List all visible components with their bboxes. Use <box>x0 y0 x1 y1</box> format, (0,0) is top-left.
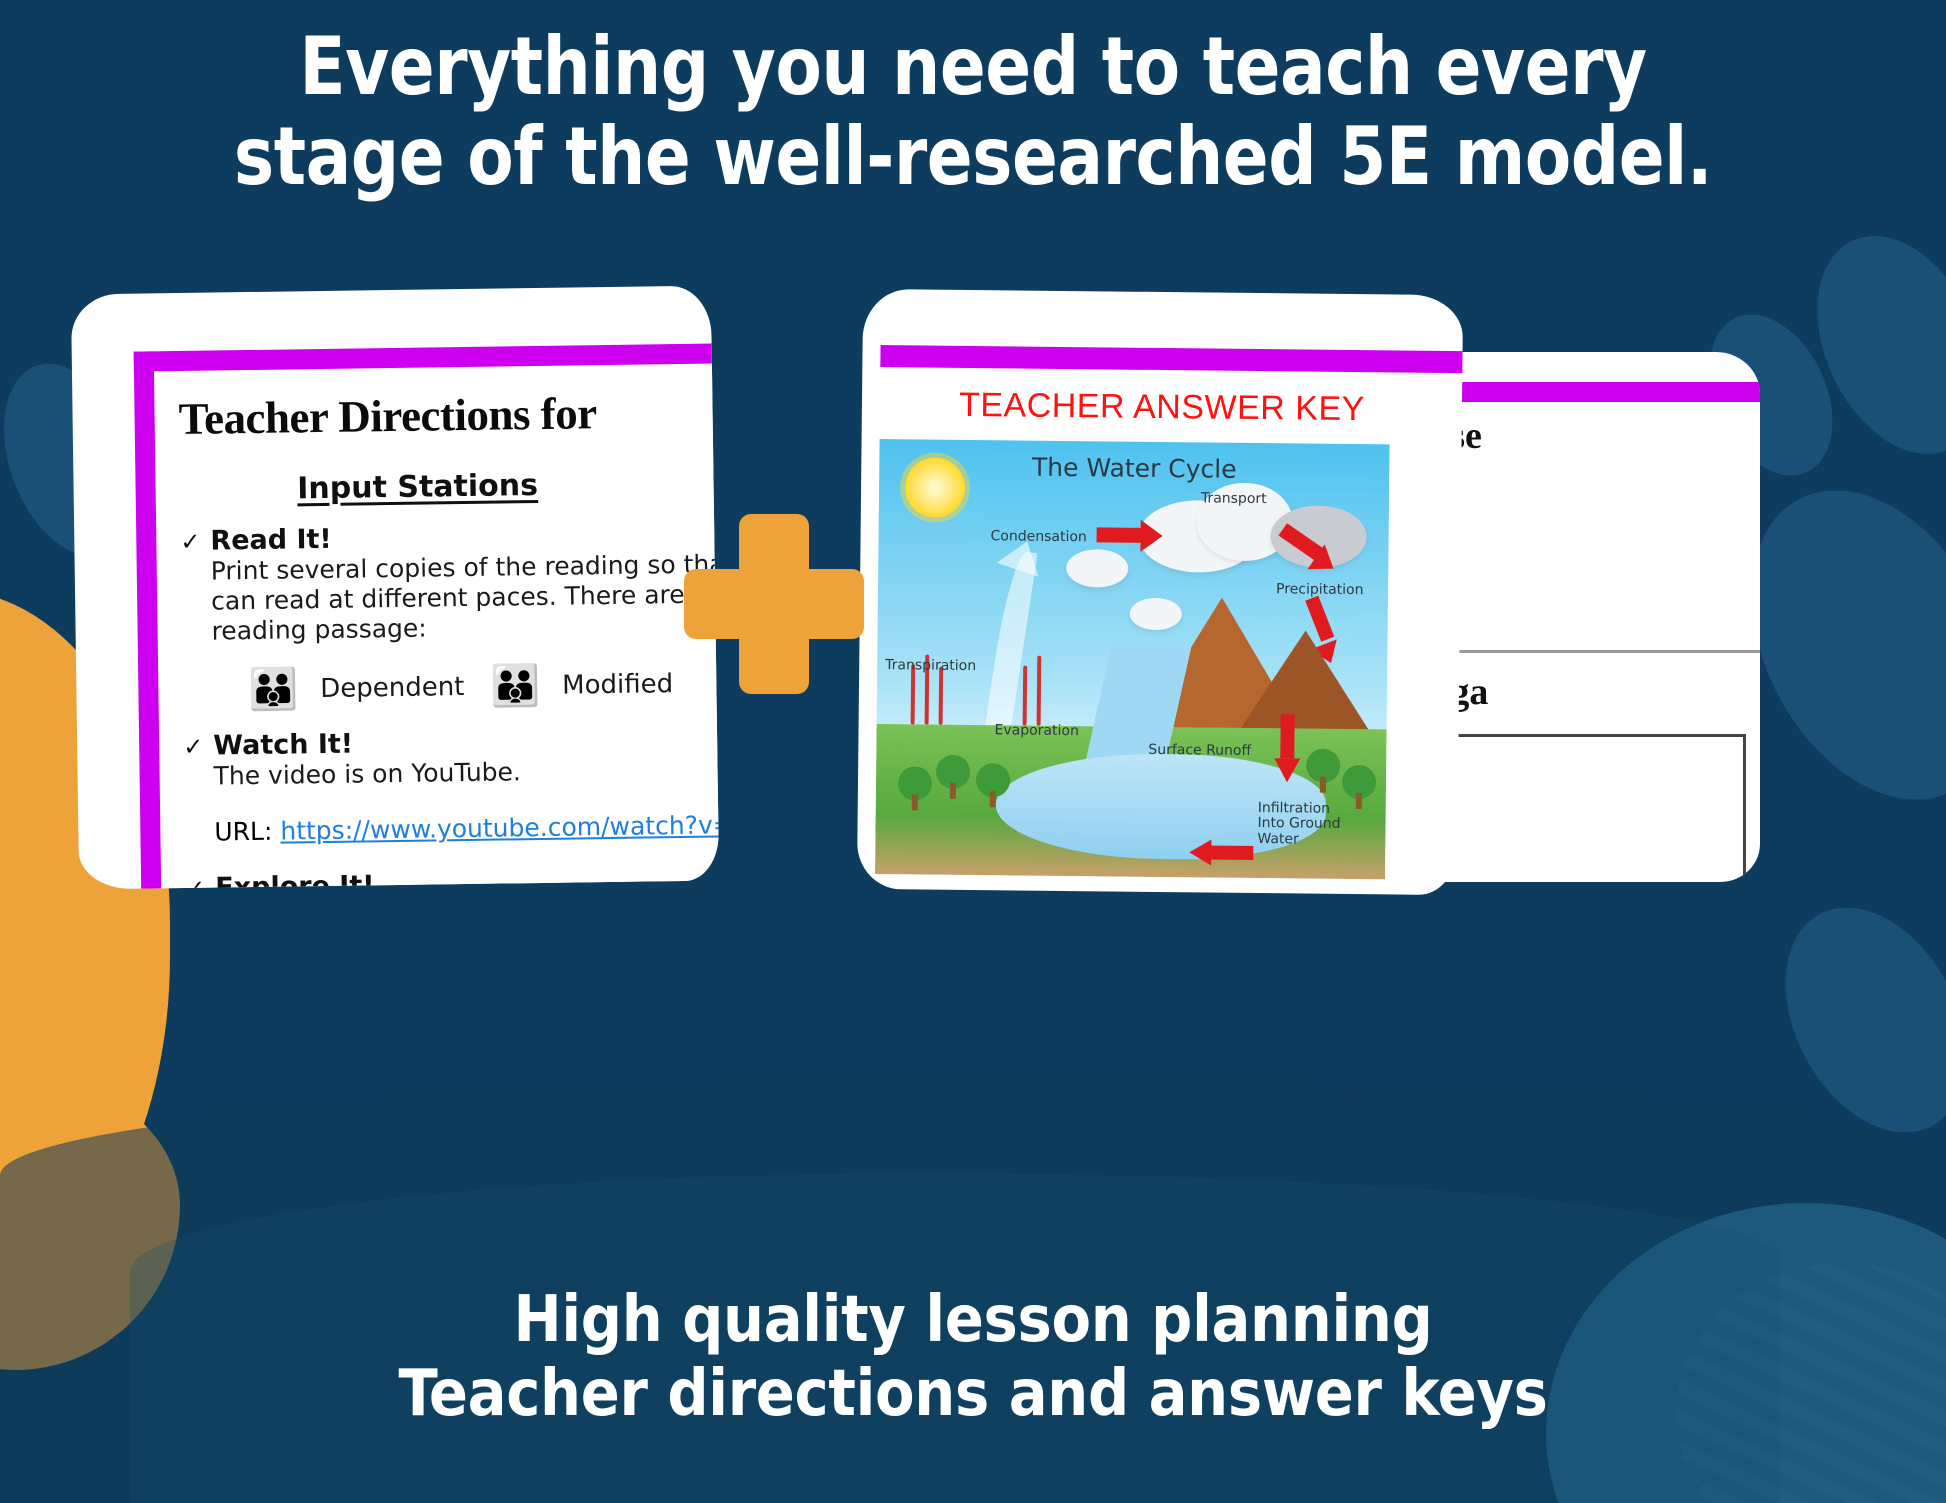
transpiration-squiggle <box>939 667 944 725</box>
diagram-label-infiltration: Infiltration Into Ground Water <box>1257 801 1347 848</box>
diagram-label-surface-runoff: Surface Runoff <box>1148 742 1251 759</box>
answer-key-page: TEACHER ANSWER KEY The Water Cycle <box>857 289 1463 895</box>
cloud-icon <box>1066 549 1128 588</box>
page-title: Everything you need to teach every stage… <box>58 22 1887 201</box>
bullet-heading-label: Watch It! <box>213 729 353 762</box>
transpiration-squiggle <box>1023 666 1028 726</box>
checkmark-icon: ✓ <box>180 528 200 556</box>
reading-version-options: 👪 Dependent 👪 Modified <box>182 645 719 731</box>
document-title: Teacher Directions for <box>178 385 719 445</box>
tree-icon <box>898 766 932 810</box>
bottom-caption-line-1: High quality lesson planning <box>0 1283 1946 1357</box>
answer-key-card[interactable]: TEACHER ANSWER KEY The Water Cycle <box>857 289 1463 895</box>
water-cycle-diagram: The Water Cycle <box>875 439 1390 879</box>
red-arrow-icon <box>1140 520 1162 552</box>
red-arrow-icon <box>1274 758 1300 782</box>
bottom-caption: High quality lesson planning Teacher dir… <box>0 1283 1946 1431</box>
bullet-read-it: ✓Read It! Print several copies of the re… <box>180 518 719 647</box>
plus-icon-vertical-bar <box>739 514 809 694</box>
red-arrow-icon <box>1097 527 1145 543</box>
diagram-label-condensation: Condensation <box>990 528 1086 545</box>
youtube-url-link[interactable]: https://www.youtube.com/watch?v=al-dc <box>280 809 719 845</box>
option-dependent: 👪 Dependent <box>248 667 465 710</box>
diagram-label-transport: Transport <box>1201 490 1267 507</box>
headline-line-2: stage of the well-researched 5E model. <box>58 112 1887 202</box>
diagram-label-evaporation: Evaporation <box>994 722 1078 739</box>
diagram-label-precipitation: Precipitation <box>1276 581 1364 598</box>
sun-icon <box>905 457 966 518</box>
bullet-heading-label: Read It! <box>210 524 332 557</box>
magenta-header-bar <box>880 345 1463 374</box>
bullet-watch-it: ✓Watch It! The video is on YouTube. <box>183 723 719 792</box>
tree-icon <box>1306 749 1340 793</box>
tree-icon <box>976 763 1010 807</box>
document-subtitle: Input Stations <box>179 466 655 508</box>
diagram-label-transpiration: Transpiration <box>885 657 976 674</box>
transpiration-squiggle <box>1037 656 1042 726</box>
red-arrow-icon <box>1280 714 1294 758</box>
answer-key-title: TEACHER ANSWER KEY <box>862 385 1462 430</box>
red-arrow-icon <box>1189 839 1211 865</box>
tree-icon <box>936 755 970 799</box>
teacher-directions-card[interactable]: Teacher Directions for Input Stations ✓R… <box>71 286 719 890</box>
red-arrow-icon <box>1209 846 1253 860</box>
two-people-desk-icon: 👪 <box>490 666 540 707</box>
plus-icon <box>684 514 864 694</box>
bottom-caption-line-2: Teacher directions and answer keys <box>0 1357 1946 1431</box>
two-people-icon: 👪 <box>248 669 298 710</box>
teacher-directions-page: Teacher Directions for Input Stations ✓R… <box>134 343 719 890</box>
headline-line-1: Everything you need to teach every <box>299 20 1646 113</box>
bullet-heading-label: Explore It! <box>215 870 375 889</box>
checkmark-icon: ✓ <box>185 875 205 890</box>
option-label: Modified <box>562 669 673 701</box>
checkmark-icon: ✓ <box>183 733 203 761</box>
option-label: Dependent <box>320 672 465 704</box>
option-modified: 👪 Modified <box>490 664 673 707</box>
white-arrow-icon <box>983 550 1037 742</box>
url-prefix: URL: <box>214 817 280 847</box>
